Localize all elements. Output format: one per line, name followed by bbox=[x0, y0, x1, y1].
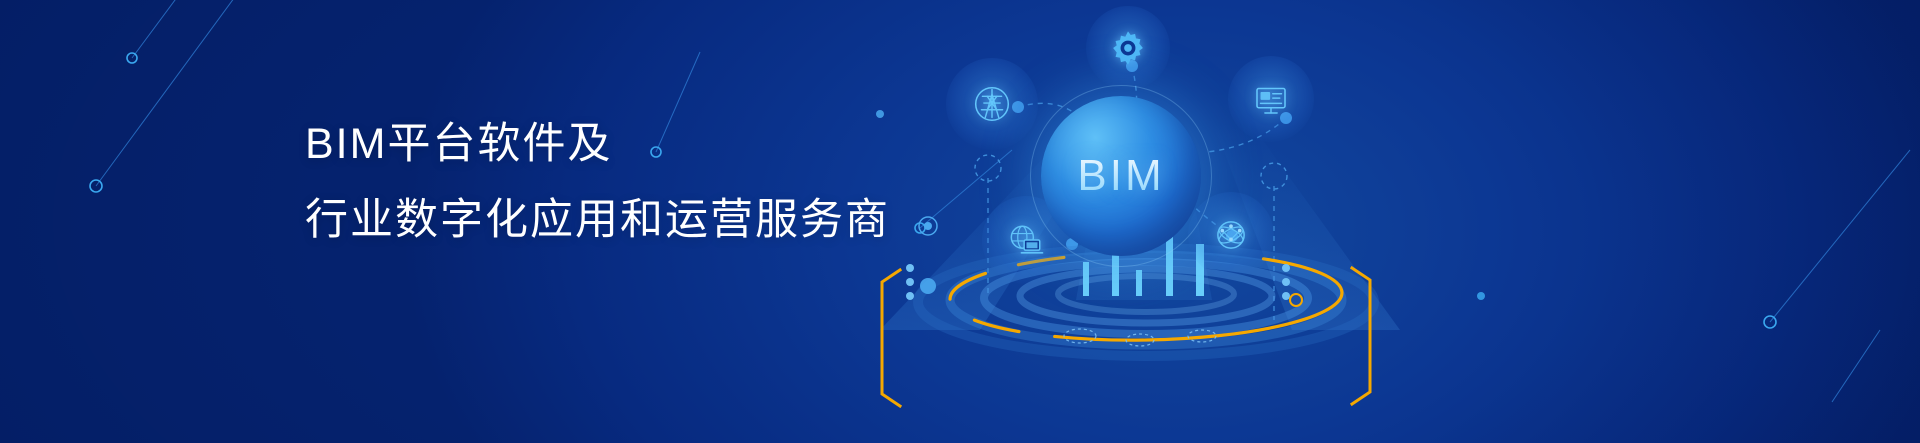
bim-illustration: BIM bbox=[840, 0, 1480, 443]
network-atom-icon bbox=[1210, 214, 1252, 256]
bim-sphere: BIM bbox=[1041, 96, 1201, 256]
power-tower-icon bbox=[969, 81, 1015, 127]
bim-label: BIM bbox=[1077, 151, 1164, 201]
monitor-icon bbox=[1250, 78, 1292, 120]
node-gear bbox=[1086, 6, 1170, 90]
node-monitor bbox=[1228, 56, 1314, 142]
globe-laptop-icon bbox=[1004, 218, 1048, 262]
gear-icon bbox=[1107, 27, 1149, 69]
hero-banner: BIM平台软件及 行业数字化应用和运营服务商 bbox=[0, 0, 1920, 443]
node-power-tower bbox=[946, 58, 1038, 150]
